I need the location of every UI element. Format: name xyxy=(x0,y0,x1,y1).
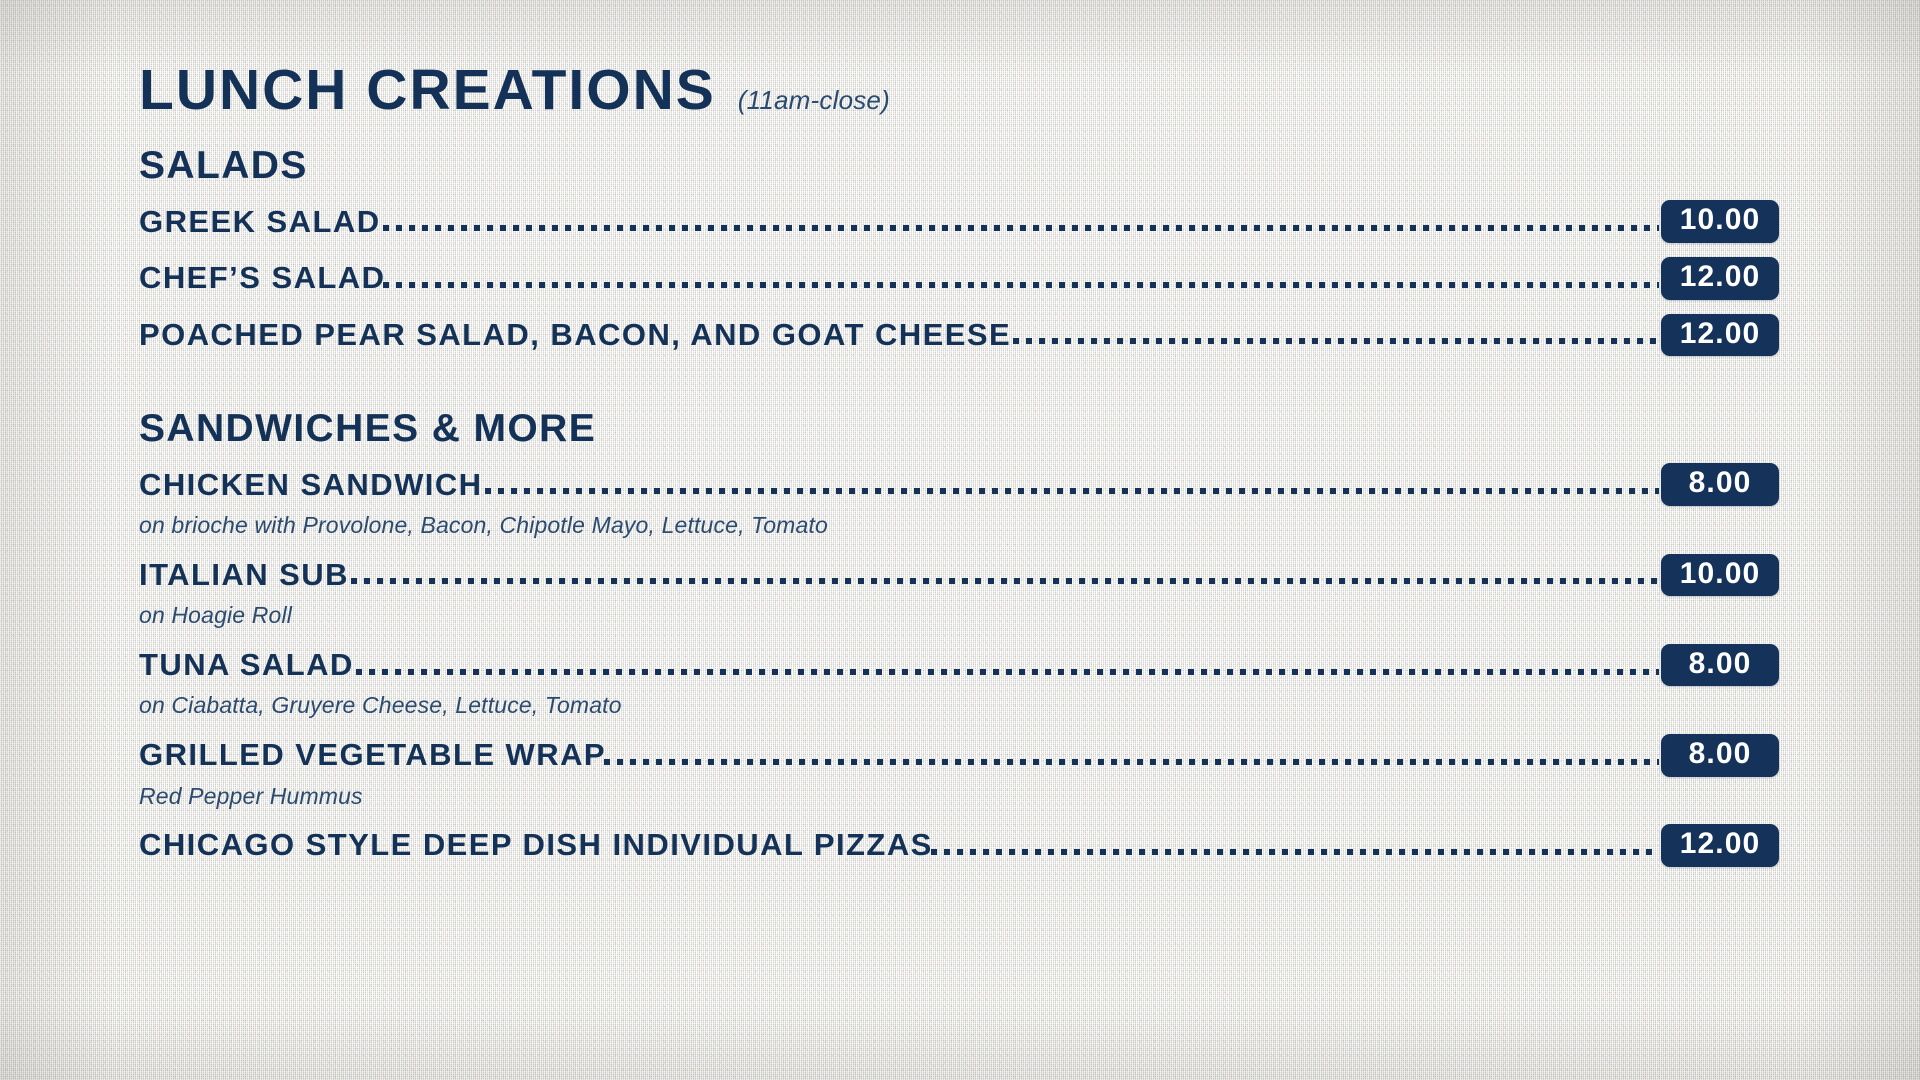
menu-item-row: CHICAGO STYLE DEEP DISH INDIVIDUAL PIZZA… xyxy=(139,824,1779,867)
dot-leader xyxy=(383,206,1659,237)
menu-item-row: ITALIAN SUB 10.00 xyxy=(139,554,1779,597)
menu-item-row: CHEF’S SALAD 12.00 xyxy=(139,257,1779,300)
menu-item-poached-pear-salad[interactable]: POACHED PEAR SALAD, BACON, AND GOAT CHEE… xyxy=(139,314,1920,357)
menu-item-description: Red Pepper Hummus xyxy=(139,783,1920,811)
price-badge: 10.00 xyxy=(1661,200,1779,243)
dot-leader xyxy=(356,650,1659,681)
price-badge: 12.00 xyxy=(1661,257,1779,300)
dot-leader xyxy=(485,469,1659,500)
menu-item-greek-salad[interactable]: GREEK SALAD 10.00 xyxy=(139,200,1920,243)
dot-leader xyxy=(604,740,1659,771)
menu-item-description: on brioche with Provolone, Bacon, Chipot… xyxy=(139,512,1920,540)
menu-item-chicago-deep-dish-pizzas[interactable]: CHICAGO STYLE DEEP DISH INDIVIDUAL PIZZA… xyxy=(139,824,1920,867)
service-hours-label: (11am-close) xyxy=(738,85,890,116)
menu-item-description: on Ciabatta, Gruyere Cheese, Lettuce, To… xyxy=(139,692,1920,720)
menu-page: LUNCH CREATIONS (11am-close) SALADS GREE… xyxy=(0,0,1920,1080)
menu-item-italian-sub[interactable]: ITALIAN SUB 10.00 on Hoagie Roll xyxy=(139,554,1920,630)
dot-leader xyxy=(383,263,1659,294)
menu-item-name: GREEK SALAD xyxy=(139,204,381,240)
menu-item-row: TUNA SALAD 8.00 xyxy=(139,644,1779,687)
menu-item-chicken-sandwich[interactable]: CHICKEN SANDWICH 8.00 on brioche with Pr… xyxy=(139,463,1920,539)
menu-item-name: CHICKEN SANDWICH xyxy=(139,467,483,503)
menu-item-name: CHEF’S SALAD xyxy=(139,260,385,296)
menu-item-row: CHICKEN SANDWICH 8.00 xyxy=(139,463,1779,506)
section-heading-salads: SALADS xyxy=(139,145,1920,186)
section-heading-sandwiches-and-more: SANDWICHES & MORE xyxy=(139,408,1920,449)
dot-leader xyxy=(351,559,1659,590)
menu-item-row: GRILLED VEGETABLE WRAP 8.00 xyxy=(139,734,1779,777)
dot-leader xyxy=(931,830,1659,861)
page-title: LUNCH CREATIONS xyxy=(139,62,716,119)
menu-section-sandwiches-and-more: SANDWICHES & MORE CHICKEN SANDWICH 8.00 … xyxy=(139,408,1920,867)
price-badge: 8.00 xyxy=(1661,644,1779,687)
menu-item-chefs-salad[interactable]: CHEF’S SALAD 12.00 xyxy=(139,257,1920,300)
menu-item-name: GRILLED VEGETABLE WRAP xyxy=(139,737,606,773)
menu-item-name: POACHED PEAR SALAD, BACON, AND GOAT CHEE… xyxy=(139,317,1011,353)
menu-item-tuna-salad[interactable]: TUNA SALAD 8.00 on Ciabatta, Gruyere Che… xyxy=(139,644,1920,720)
menu-item-description: on Hoagie Roll xyxy=(139,602,1920,630)
menu-section-salads: SALADS GREEK SALAD 10.00 CHEF’S SALAD 12… xyxy=(139,145,1920,356)
price-badge: 8.00 xyxy=(1661,463,1779,506)
price-badge: 12.00 xyxy=(1661,314,1779,357)
price-badge: 8.00 xyxy=(1661,734,1779,777)
menu-header: LUNCH CREATIONS (11am-close) xyxy=(139,62,1920,119)
menu-item-row: POACHED PEAR SALAD, BACON, AND GOAT CHEE… xyxy=(139,314,1779,357)
menu-item-row: GREEK SALAD 10.00 xyxy=(139,200,1779,243)
price-badge: 12.00 xyxy=(1661,824,1779,867)
menu-item-name: TUNA SALAD xyxy=(139,647,354,683)
menu-item-grilled-vegetable-wrap[interactable]: GRILLED VEGETABLE WRAP 8.00 Red Pepper H… xyxy=(139,734,1920,810)
menu-item-name: CHICAGO STYLE DEEP DISH INDIVIDUAL PIZZA… xyxy=(139,827,933,863)
dot-leader xyxy=(1013,319,1659,350)
menu-item-name: ITALIAN SUB xyxy=(139,557,349,593)
price-badge: 10.00 xyxy=(1661,554,1779,597)
